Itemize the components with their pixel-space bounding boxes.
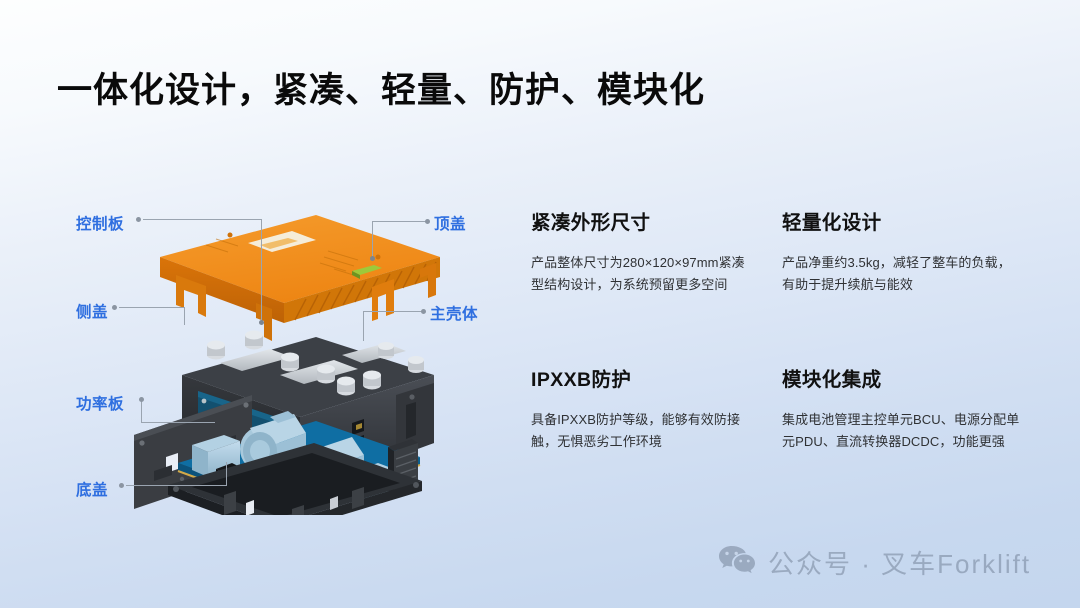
feature-compact-size: 紧凑外形尺寸 产品整体尺寸为280×120×97mm紧凑型结构设计，为系统预留更… [531, 206, 756, 297]
feature-heading: 模块化集成 [782, 363, 1022, 392]
feature-body: 具备IPXXB防护等级，能够有效防接触，无惧恶劣工作环境 [531, 409, 756, 454]
feature-body: 产品整体尺寸为280×120×97mm紧凑型结构设计，为系统预留更多空间 [531, 252, 756, 297]
slide-canvas: 一体化设计，紧凑、轻量、防护、模块化 [0, 0, 1080, 608]
feature-ipxxb-protection: IPXXB防护 具备IPXXB防护等级，能够有效防接触，无惧恶劣工作环境 [531, 363, 756, 454]
leader-dot-bottom-cover [119, 483, 124, 488]
callout-label-side-cover: 侧盖 [76, 300, 108, 322]
callout-label-top-cover: 顶盖 [434, 212, 466, 234]
leader-anchor-top-cover [370, 256, 375, 261]
watermark: 公众号 · 叉车Forklift [718, 544, 1031, 581]
feature-body: 集成电池管理主控单元BCU、电源分配单元PDU、直流转换器DCDC，功能更强 [782, 409, 1022, 454]
callout-label-control-board: 控制板 [76, 212, 124, 234]
feature-heading: 轻量化设计 [782, 206, 1022, 235]
feature-heading: IPXXB防护 [531, 363, 756, 392]
callout-label-main-housing: 主壳体 [430, 302, 478, 324]
watermark-text: 公众号 · 叉车Forklift [768, 544, 1031, 581]
exploded-product-illustration [120, 195, 480, 515]
leader-dot-control-board [136, 217, 141, 222]
leader-dot-power-board [139, 397, 144, 402]
leader-dot-top-cover [425, 219, 430, 224]
feature-body: 产品净重约3.5kg，减轻了整车的负载，有助于提升续航与能效 [782, 252, 1022, 297]
feature-modular-integration: 模块化集成 集成电池管理主控单元BCU、电源分配单元PDU、直流转换器DCDC，… [782, 363, 1022, 454]
part-top-cover [160, 215, 440, 341]
leader-dot-side-cover [112, 305, 117, 310]
leader-anchor-control-board [259, 320, 264, 325]
callout-label-power-board: 功率板 [76, 392, 124, 414]
page-title: 一体化设计，紧凑、轻量、防护、模块化 [57, 62, 705, 113]
leader-dot-main-housing [421, 309, 426, 314]
feature-heading: 紧凑外形尺寸 [531, 206, 756, 235]
wechat-icon [718, 544, 756, 581]
callout-label-bottom-cover: 底盖 [76, 478, 108, 500]
feature-lightweight: 轻量化设计 产品净重约3.5kg，减轻了整车的负载，有助于提升续航与能效 [782, 206, 1022, 297]
